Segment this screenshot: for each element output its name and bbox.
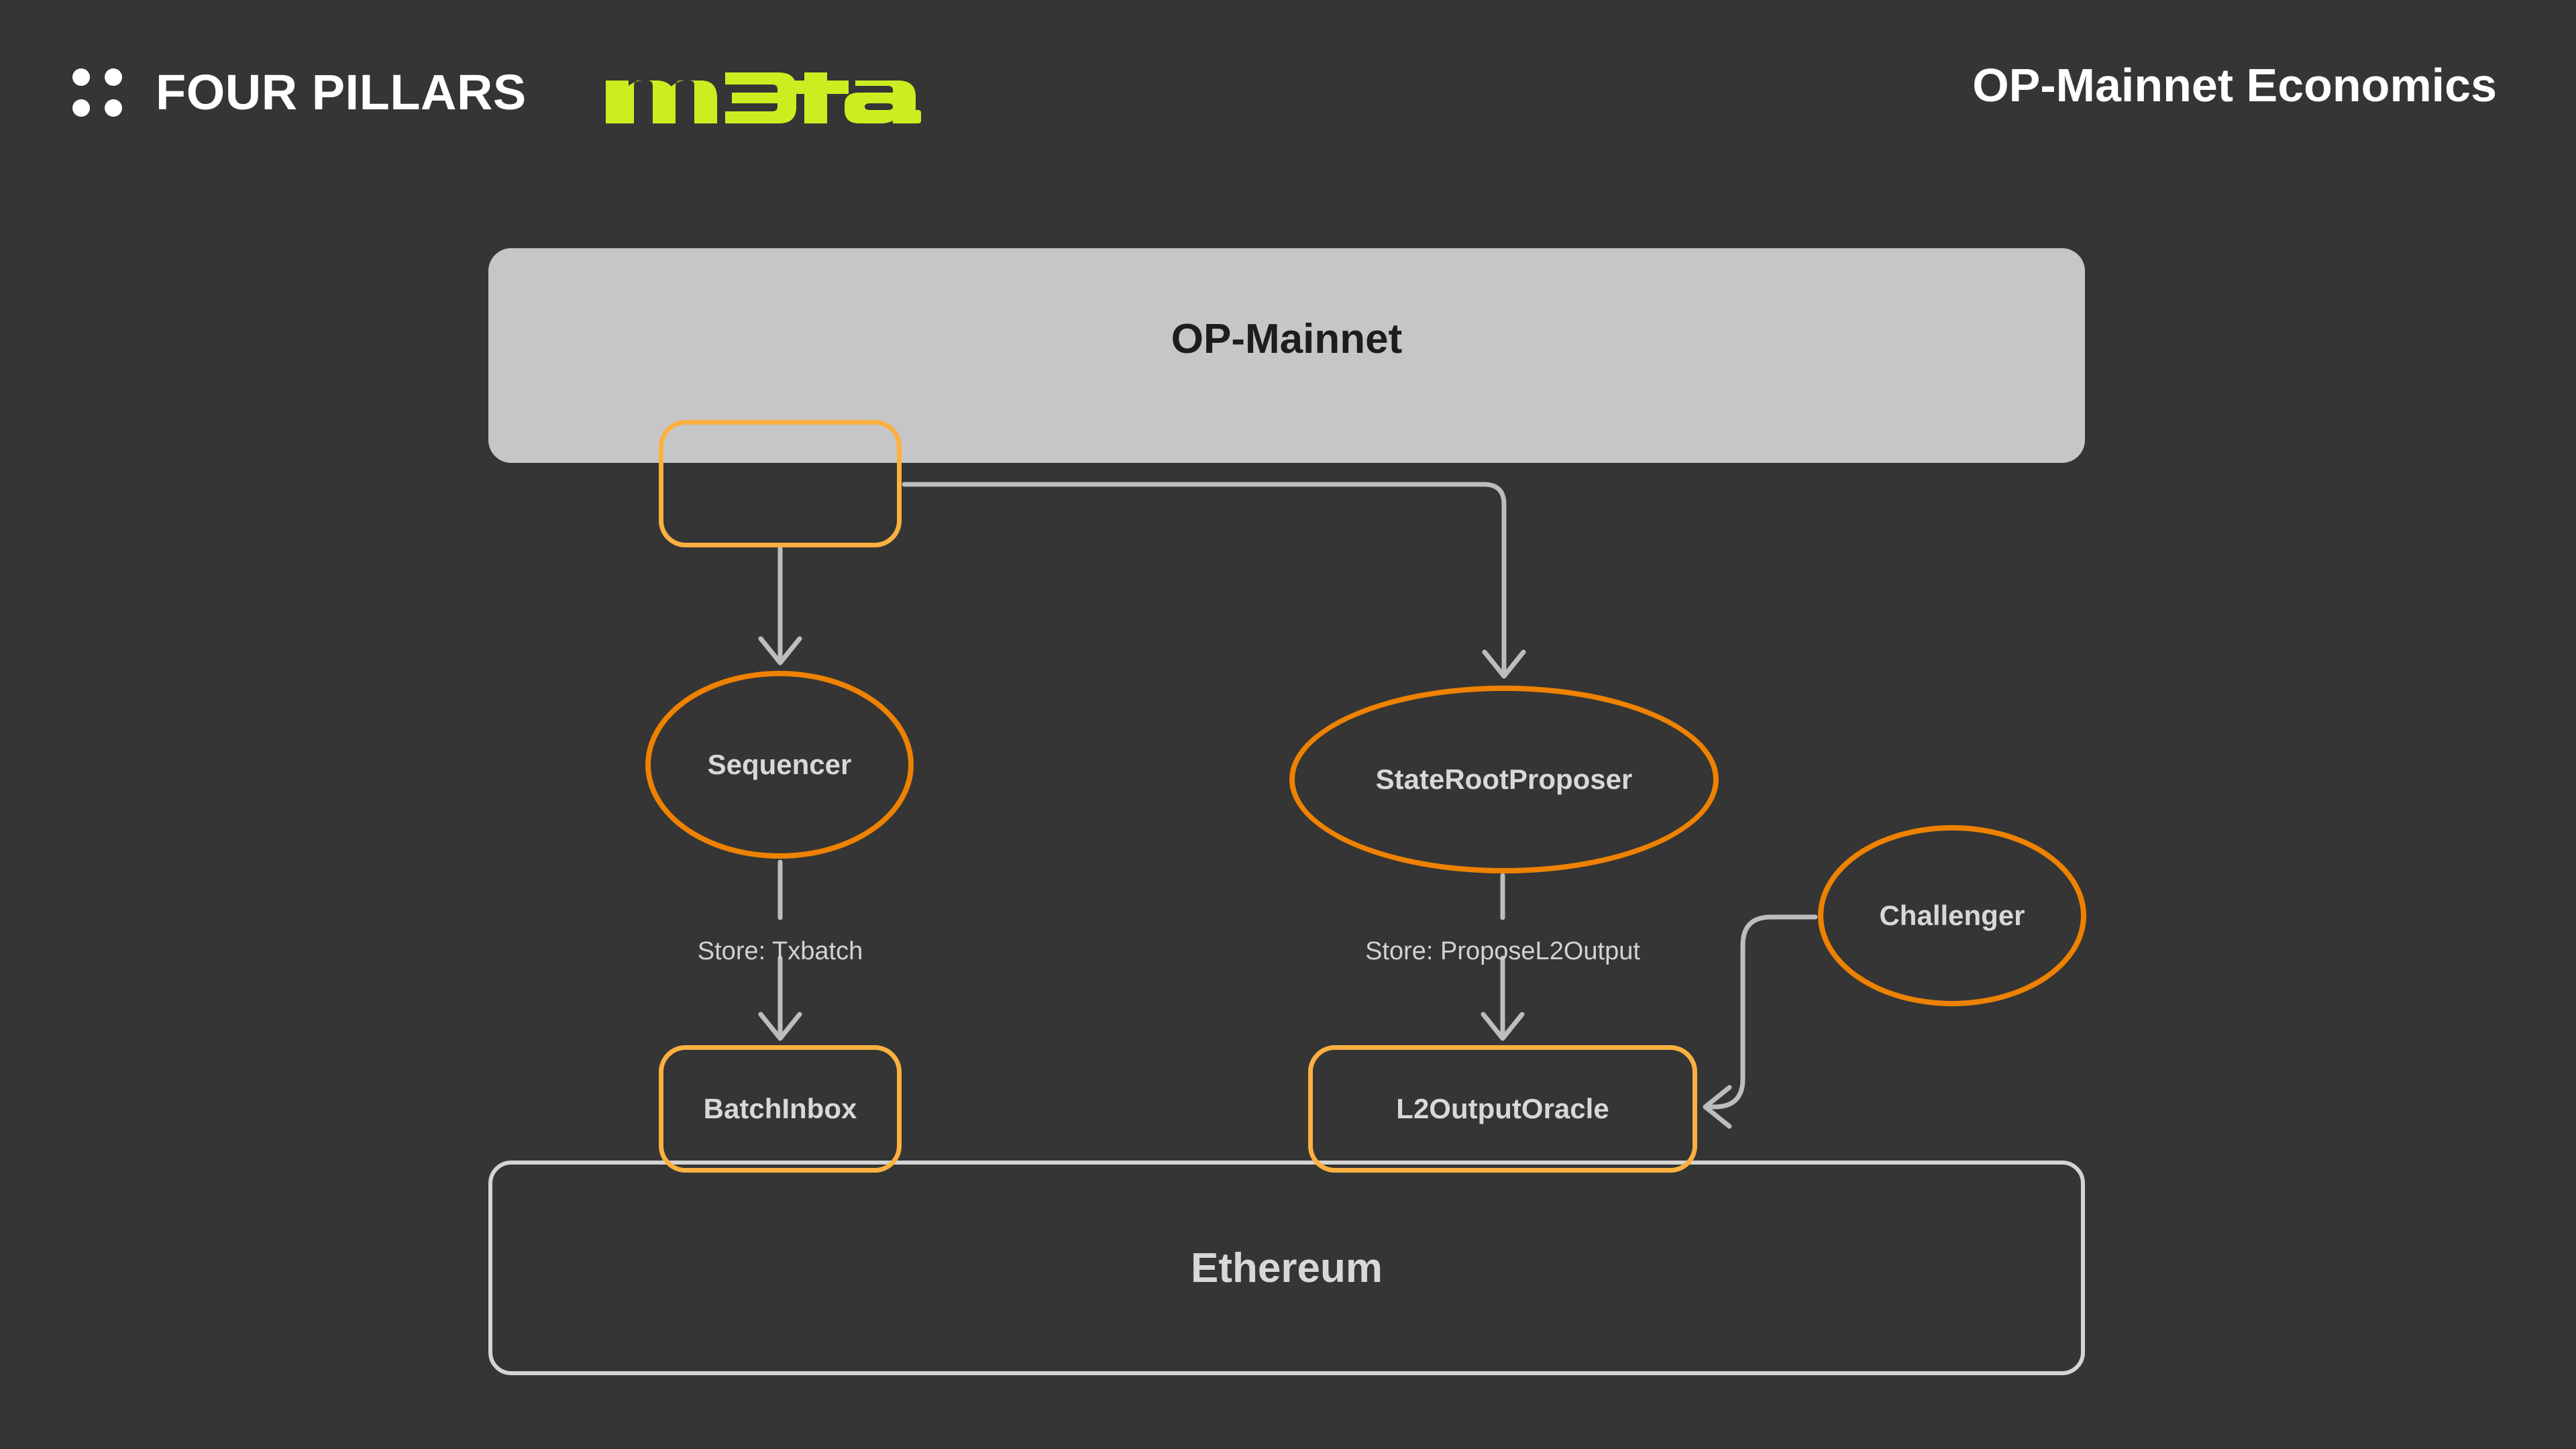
- layer-ethereum-label: Ethereum: [1191, 1244, 1383, 1292]
- edge-challenger-l2oracle: [1705, 917, 1815, 1126]
- node-batch-inbox-label: BatchInbox: [704, 1093, 857, 1125]
- node-challenger[interactable]: Challenger: [1818, 825, 2086, 1006]
- layer-op-mainnet-label: OP-Mainnet: [1171, 315, 1402, 363]
- edge-label-store-propose-l2output: Store: ProposeL2Output: [1365, 937, 1640, 966]
- node-l2-output-oracle-label: L2OutputOracle: [1396, 1093, 1609, 1125]
- edge-proxybox-sequencer: [761, 549, 800, 663]
- edge-label-store-txbatch: Store: Txbatch: [698, 937, 863, 966]
- node-challenger-label: Challenger: [1879, 900, 2025, 932]
- node-l2-output-oracle[interactable]: L2OutputOracle: [1308, 1045, 1697, 1173]
- architecture-diagram: OP-Mainnet Ethereum Sequencer StateRootP…: [0, 0, 2576, 1449]
- node-proxy-box[interactable]: [659, 420, 902, 547]
- node-state-root-proposer-label: StateRootProposer: [1376, 763, 1633, 796]
- layer-ethereum: Ethereum: [488, 1161, 2085, 1375]
- node-batch-inbox[interactable]: BatchInbox: [659, 1045, 902, 1173]
- edge-proxybox-stateroot: [904, 484, 1523, 676]
- node-sequencer[interactable]: Sequencer: [645, 671, 914, 859]
- node-state-root-proposer[interactable]: StateRootProposer: [1289, 686, 1719, 873]
- node-sequencer-label: Sequencer: [708, 749, 852, 781]
